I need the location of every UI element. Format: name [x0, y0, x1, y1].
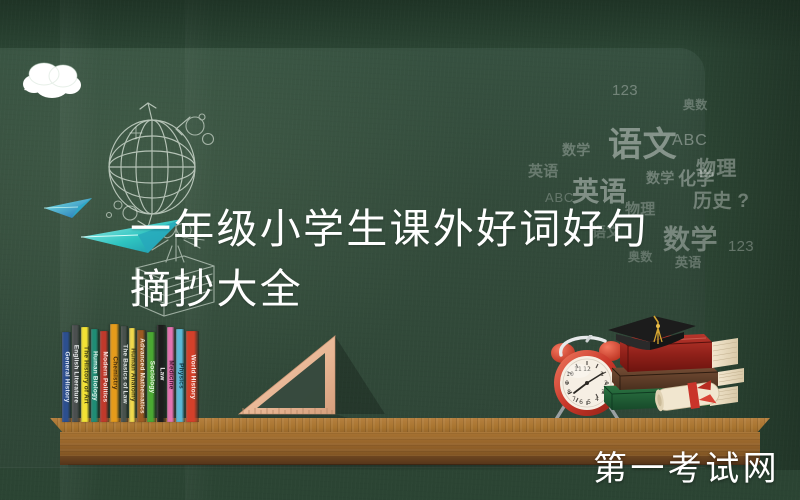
shelf-book: World History — [186, 331, 199, 422]
decor-word: 语文 — [608, 117, 677, 166]
svg-text:9: 9 — [565, 380, 569, 387]
svg-text:8: 8 — [567, 389, 571, 396]
shelf-book: General History — [62, 332, 71, 422]
shelf-book: Advanced Mathematics — [137, 330, 146, 422]
page-title-line-1: 一年级小学生课外好词好句 — [130, 200, 650, 260]
decor-word: 奥数 — [683, 96, 707, 113]
decor-word: 历史 ? — [693, 186, 749, 213]
decor-word: 英语 — [675, 252, 702, 271]
book-spine-title: The History of Art — [82, 346, 89, 404]
svg-text:5: 5 — [587, 399, 591, 406]
shelf-book: Modern Politics — [100, 331, 109, 422]
shelf-book: Human Biology — [91, 329, 99, 422]
shelf-book: The History of Art — [81, 327, 90, 422]
decor-word: 数学 — [562, 140, 591, 160]
decor-word: 123 — [612, 82, 638, 99]
shelf-book: Physics — [176, 329, 185, 422]
book-spine-title: Medicine — [168, 360, 175, 389]
shelf-book: Chemistry — [110, 324, 120, 422]
decor-word: 英语 — [528, 160, 559, 181]
svg-text:6: 6 — [579, 399, 583, 406]
svg-text:7: 7 — [572, 396, 576, 403]
bookshelf-row: General HistoryEnglish LiteratureThe His… — [62, 322, 200, 422]
page-title: 一年级小学生课外好词好句 摘抄大全 — [130, 200, 650, 320]
cloud-icon — [18, 58, 98, 106]
book-spine-title: World History — [189, 354, 196, 399]
book-spine-title: The Basics of Law — [121, 344, 128, 404]
decor-word: 123 — [728, 238, 754, 255]
shelf-book: Law — [157, 325, 166, 422]
book-spine-title: Sociology — [148, 361, 155, 394]
shelf-book: The Basics of Law — [121, 326, 128, 422]
book-spine-title: Physics — [177, 363, 184, 389]
book-spine-title: Advanced Mathematics — [138, 338, 145, 414]
book-spine-title: Chemistry — [112, 356, 119, 389]
book-spine-title: Modern Politics — [101, 351, 108, 402]
site-watermark: 第一考试网 — [593, 441, 780, 490]
book-spine-title: Human Anatomy — [129, 348, 136, 401]
poster-canvas: 123奥数语文ABC数学物理英语英语数学化学历史 ?ABC物理数学语文123奥数… — [0, 0, 800, 500]
book-stack-group — [598, 312, 748, 424]
book-spine-title: General History — [63, 352, 70, 403]
book-spine-title: Law — [158, 367, 165, 380]
shelf-book: English Literature — [72, 325, 80, 422]
book-spine-title: Human Biology — [92, 351, 99, 401]
triangle-ruler-icon — [235, 330, 415, 422]
shelf-book: Sociology — [147, 332, 156, 422]
decor-word: 数学 — [646, 168, 675, 188]
page-title-line-2: 摘抄大全 — [130, 260, 650, 320]
book-spine-title: English Literature — [73, 344, 80, 402]
shelf-book: Medicine — [167, 327, 175, 422]
decor-word: ABC — [672, 132, 708, 150]
shelf-book: Human Anatomy — [129, 328, 136, 422]
